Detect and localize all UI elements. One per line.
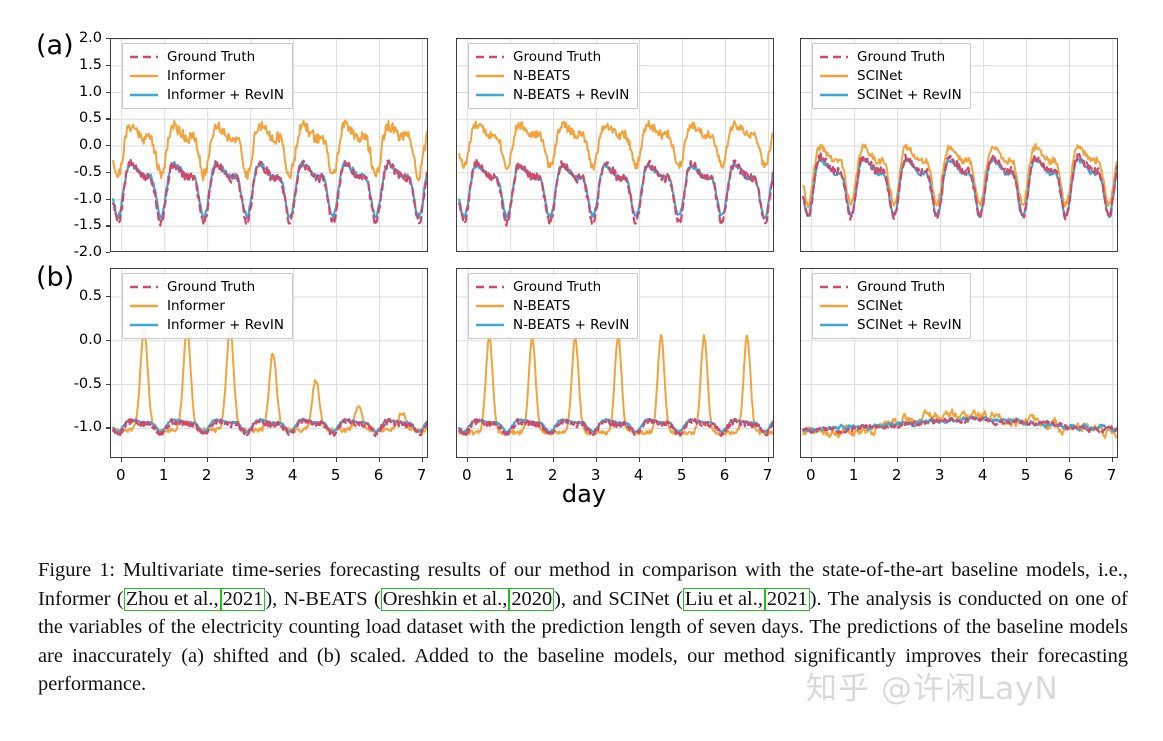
- ytick-label: -2.0: [58, 244, 102, 260]
- ytick-label: -0.5: [58, 376, 102, 392]
- ytick-label: 2.0: [58, 30, 102, 46]
- citation-liu-year[interactable]: 2021: [765, 588, 810, 611]
- legend-label: Ground Truth: [857, 280, 945, 294]
- xtick-label: 4: [634, 466, 644, 484]
- legend-item-n-beats[interactable]: N-BEATS: [475, 298, 629, 314]
- ytick-mark: [106, 38, 110, 39]
- legend-item-ground-truth[interactable]: Ground Truth: [819, 279, 962, 295]
- xtick-label: 0: [462, 466, 472, 484]
- xtick-label: 3: [935, 466, 945, 484]
- legend-label: Ground Truth: [857, 50, 945, 64]
- xtick-mark: [1112, 458, 1113, 462]
- ytick-label: -0.5: [58, 164, 102, 180]
- legend-item-informer-revin[interactable]: Informer + RevIN: [129, 317, 284, 333]
- xtick-label: 7: [1107, 466, 1117, 484]
- xtick-mark: [1069, 458, 1070, 462]
- legend-swatch-solid-line-icon: [129, 88, 159, 102]
- legend-swatch-dashed-line-icon: [129, 50, 159, 64]
- legend-b-nbeats[interactable]: Ground TruthN-BEATSN-BEATS + RevIN: [468, 273, 638, 339]
- xtick-label: 2: [202, 466, 212, 484]
- ytick-mark: [106, 145, 110, 146]
- xtick-mark: [940, 458, 941, 462]
- xtick-mark: [207, 458, 208, 462]
- ytick-label: -1.0: [58, 191, 102, 207]
- legend-label: Ground Truth: [167, 280, 255, 294]
- ytick-mark: [106, 199, 110, 200]
- legend-item-ground-truth[interactable]: Ground Truth: [129, 279, 284, 295]
- xtick-mark: [250, 458, 251, 462]
- legend-label: Informer: [167, 299, 225, 313]
- ytick-mark: [106, 225, 110, 226]
- xtick-mark: [811, 458, 812, 462]
- xtick-mark: [768, 458, 769, 462]
- citation-oreshkin-authors[interactable]: Oreshkin et al.,: [381, 588, 510, 611]
- legend-item-scinet-revin[interactable]: SCINet + RevIN: [819, 317, 962, 333]
- xtick-mark: [379, 458, 380, 462]
- ytick-label: 0.0: [58, 137, 102, 153]
- legend-label: SCINet + RevIN: [857, 88, 962, 102]
- legend-item-scinet-revin[interactable]: SCINet + RevIN: [819, 87, 962, 103]
- xtick-mark: [422, 458, 423, 462]
- ytick-mark: [106, 65, 110, 66]
- xtick-mark: [336, 458, 337, 462]
- xtick-mark: [725, 458, 726, 462]
- ytick-label: 0.0: [58, 332, 102, 348]
- xtick-label: 5: [677, 466, 687, 484]
- legend-swatch-solid-line-icon: [129, 299, 159, 313]
- legend-label: N-BEATS + RevIN: [513, 88, 629, 102]
- xtick-label: 5: [331, 466, 341, 484]
- xtick-label: 6: [1064, 466, 1074, 484]
- legend-swatch-dashed-line-icon: [129, 280, 159, 294]
- xtick-label: 2: [548, 466, 558, 484]
- ytick-label: 0.5: [58, 288, 102, 304]
- xtick-mark: [164, 458, 165, 462]
- xtick-label: 7: [417, 466, 427, 484]
- xtick-label: 3: [245, 466, 255, 484]
- legend-item-n-beats-revin[interactable]: N-BEATS + RevIN: [475, 317, 629, 333]
- legend-label: SCINet + RevIN: [857, 318, 962, 332]
- legend-item-ground-truth[interactable]: Ground Truth: [819, 49, 962, 65]
- xtick-label: 4: [978, 466, 988, 484]
- legend-item-n-beats[interactable]: N-BEATS: [475, 68, 629, 84]
- legend-swatch-solid-line-icon: [475, 299, 505, 313]
- legend-swatch-solid-line-icon: [819, 88, 849, 102]
- legend-b-informer[interactable]: Ground TruthInformerInformer + RevIN: [122, 273, 293, 339]
- legend-item-informer[interactable]: Informer: [129, 298, 284, 314]
- legend-item-informer[interactable]: Informer: [129, 68, 284, 84]
- figure-panel-grid: (a) (b) Ground TruthInformerInformer + R…: [0, 0, 1163, 540]
- xtick-mark: [1026, 458, 1027, 462]
- xtick-mark: [293, 458, 294, 462]
- xtick-mark: [897, 458, 898, 462]
- xtick-label: 0: [806, 466, 816, 484]
- xtick-mark: [553, 458, 554, 462]
- legend-swatch-solid-line-icon: [129, 318, 159, 332]
- xtick-label: 1: [505, 466, 515, 484]
- xtick-mark: [639, 458, 640, 462]
- legend-label: N-BEATS: [513, 69, 570, 83]
- caption-mid-2: ), and SCINet (: [554, 588, 683, 610]
- legend-label: SCINet: [857, 299, 903, 313]
- legend-swatch-dashed-line-icon: [819, 50, 849, 64]
- xtick-mark: [596, 458, 597, 462]
- legend-swatch-solid-line-icon: [475, 88, 505, 102]
- ytick-label: 1.5: [58, 57, 102, 73]
- ytick-mark: [106, 340, 110, 341]
- legend-a-scinet[interactable]: Ground TruthSCINetSCINet + RevIN: [812, 43, 971, 109]
- legend-a-informer[interactable]: Ground TruthInformerInformer + RevIN: [122, 43, 293, 109]
- legend-item-n-beats-revin[interactable]: N-BEATS + RevIN: [475, 87, 629, 103]
- legend-label: Informer + RevIN: [167, 88, 284, 102]
- xtick-mark: [682, 458, 683, 462]
- xtick-label: 7: [763, 466, 773, 484]
- xtick-label: 2: [892, 466, 902, 484]
- ytick-label: -1.5: [58, 217, 102, 233]
- legend-label: N-BEATS + RevIN: [513, 318, 629, 332]
- xtick-label: 4: [288, 466, 298, 484]
- figure-caption: Figure 1: Multivariate time-series forec…: [38, 556, 1128, 699]
- ytick-mark: [106, 296, 110, 297]
- ytick-mark: [106, 118, 110, 119]
- legend-label: Informer + RevIN: [167, 318, 284, 332]
- legend-swatch-dashed-line-icon: [475, 50, 505, 64]
- legend-item-scinet[interactable]: SCINet: [819, 298, 962, 314]
- citation-oreshkin-year[interactable]: 2020: [509, 588, 554, 611]
- legend-label: N-BEATS: [513, 299, 570, 313]
- xtick-mark: [121, 458, 122, 462]
- legend-swatch-solid-line-icon: [475, 318, 505, 332]
- legend-label: Informer: [167, 69, 225, 83]
- xtick-mark: [983, 458, 984, 462]
- xtick-label: 5: [1021, 466, 1031, 484]
- ytick-label: 1.0: [58, 84, 102, 100]
- xaxis-title-day: day: [562, 480, 606, 508]
- citation-liu-authors[interactable]: Liu et al.,: [683, 588, 765, 611]
- caption-mid-1: ), N-BEATS (: [265, 588, 380, 610]
- legend-item-ground-truth[interactable]: Ground Truth: [475, 279, 629, 295]
- xtick-label: 6: [720, 466, 730, 484]
- legend-a-nbeats[interactable]: Ground TruthN-BEATSN-BEATS + RevIN: [468, 43, 638, 109]
- legend-swatch-solid-line-icon: [819, 299, 849, 313]
- xtick-label: 0: [116, 466, 126, 484]
- legend-item-ground-truth[interactable]: Ground Truth: [475, 49, 629, 65]
- ytick-label: 0.5: [58, 110, 102, 126]
- xtick-label: 1: [849, 466, 859, 484]
- xtick-mark: [467, 458, 468, 462]
- legend-swatch-dashed-line-icon: [475, 280, 505, 294]
- citation-zhou-year[interactable]: 2021: [221, 588, 266, 611]
- legend-swatch-solid-line-icon: [129, 69, 159, 83]
- legend-item-ground-truth[interactable]: Ground Truth: [129, 49, 284, 65]
- legend-label: Ground Truth: [513, 280, 601, 294]
- legend-label: Ground Truth: [513, 50, 601, 64]
- ytick-mark: [106, 427, 110, 428]
- legend-label: SCINet: [857, 69, 903, 83]
- row-label-b: (b): [36, 264, 74, 291]
- citation-zhou-authors[interactable]: Zhou et al.,: [124, 588, 221, 611]
- ytick-mark: [106, 252, 110, 253]
- xtick-mark: [854, 458, 855, 462]
- xtick-mark: [510, 458, 511, 462]
- legend-swatch-solid-line-icon: [819, 318, 849, 332]
- legend-swatch-dashed-line-icon: [819, 280, 849, 294]
- legend-item-scinet[interactable]: SCINet: [819, 68, 962, 84]
- legend-label: Ground Truth: [167, 50, 255, 64]
- ytick-label: -1.0: [58, 419, 102, 435]
- legend-b-scinet[interactable]: Ground TruthSCINetSCINet + RevIN: [812, 273, 971, 339]
- legend-swatch-solid-line-icon: [475, 69, 505, 83]
- ytick-mark: [106, 92, 110, 93]
- legend-item-informer-revin[interactable]: Informer + RevIN: [129, 87, 284, 103]
- xtick-label: 1: [159, 466, 169, 484]
- legend-swatch-solid-line-icon: [819, 69, 849, 83]
- xtick-label: 6: [374, 466, 384, 484]
- ytick-mark: [106, 172, 110, 173]
- ytick-mark: [106, 384, 110, 385]
